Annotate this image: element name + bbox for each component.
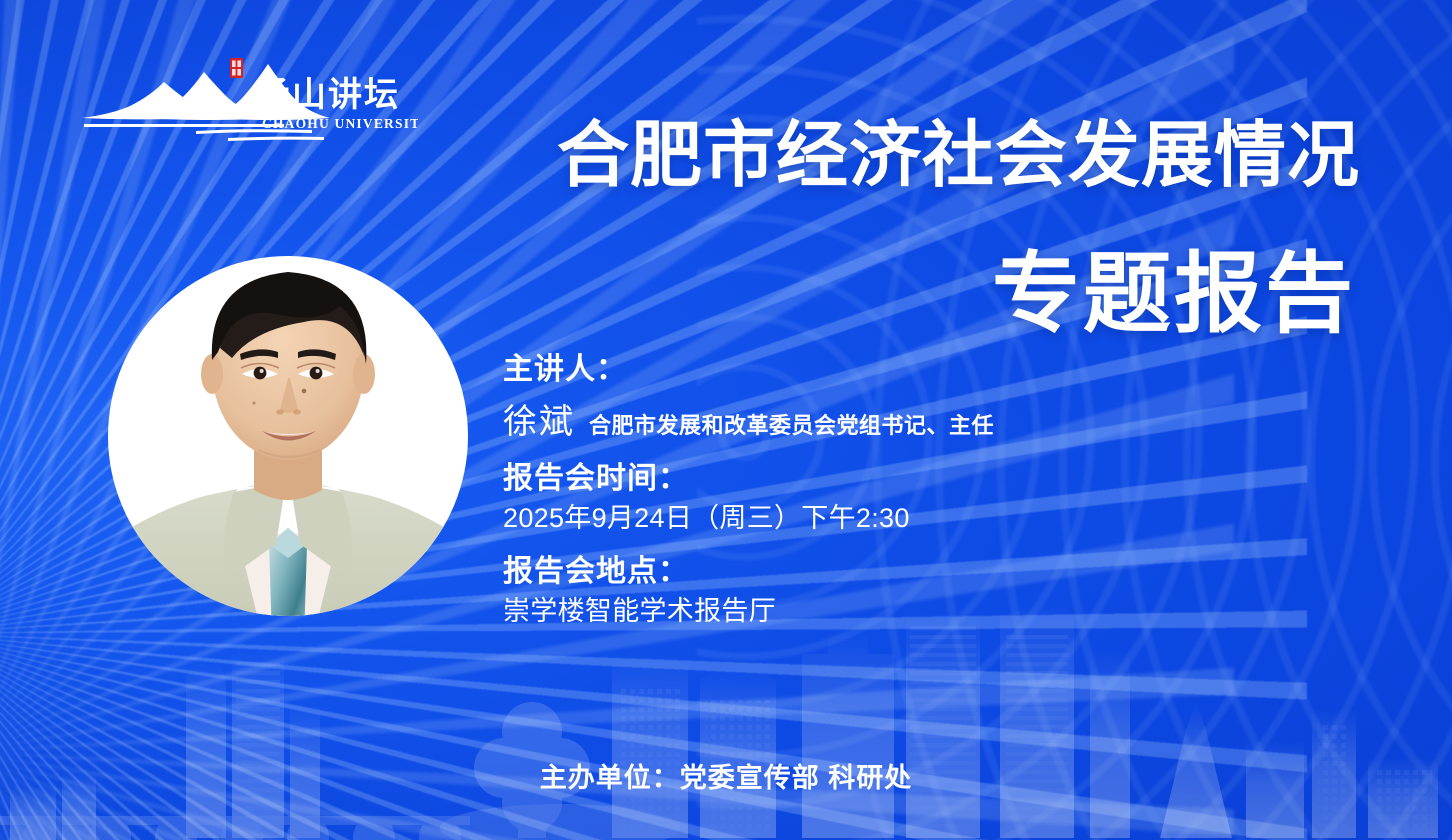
red-seal-stamp [230,58,243,78]
place-value: 崇学楼智能学术报告厅 [503,592,1263,630]
speaker-label: 主讲人： [503,350,1263,390]
place-label: 报告会地点： [503,552,1263,592]
portrait-circle-bg [108,256,468,616]
poster-title-line1: 合肥市经济社会发展情况 [557,120,1360,192]
speaker-role: 合肥市发展和改革委员会党组书记、主任 [589,408,994,440]
event-details: 主讲人： 徐斌 合肥市发展和改革委员会党组书记、主任 报告会时间： 2025年9… [503,350,1263,630]
logo-brand-cn: 汤山讲坛 [256,75,400,115]
organizers-line: 主办单位：党委宣传部 科研处 [0,756,1452,795]
speaker-row: 徐斌 合肥市发展和改革委员会党组书记、主任 [503,394,1263,443]
speaker-portrait [108,228,468,640]
event-poster: 汤山讲坛 CHAOHU UNIVERSITY [0,0,1452,840]
poster-title-line2: 专题报告 [992,250,1356,338]
time-label: 报告会时间： [503,459,1263,499]
speaker-name: 徐斌 [503,394,575,443]
chaohu-mountain-logo: 汤山讲坛 CHAOHU UNIVERSITY [78,56,418,148]
time-value: 2025年9月24日（周三）下午2:30 [503,499,1263,537]
logo-brand-en: CHAOHU UNIVERSITY [262,116,418,131]
